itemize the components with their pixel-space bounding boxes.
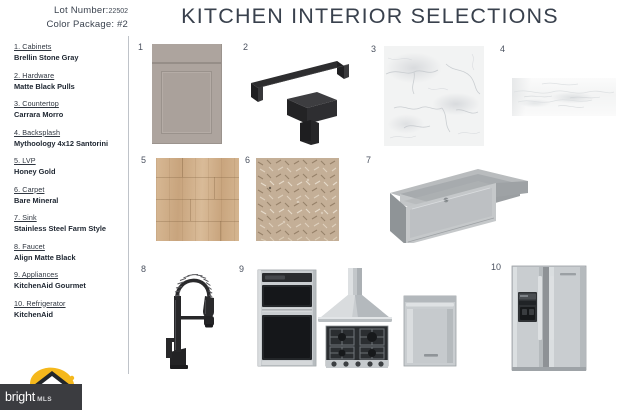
legend-value-lvp: Honey Gold (14, 166, 126, 177)
legend-head-carpet: 6. Carpet (14, 185, 126, 195)
lot-number-label: Lot Number: (54, 5, 108, 16)
marker-5: 5 (141, 155, 146, 165)
dishwasher-icon (404, 296, 456, 366)
marker-9: 9 (239, 264, 244, 274)
hardware-icon (245, 55, 355, 145)
plank-seam (156, 221, 239, 222)
legend-head-faucet: 8. Faucet (14, 242, 126, 252)
countertop-veining (384, 46, 484, 146)
cabinet-panel (161, 71, 212, 134)
hardware-pull-knob (245, 55, 355, 145)
legend-head-appliances: 9. Appliances (14, 270, 126, 280)
marker-8: 8 (141, 264, 146, 274)
marker-1: 1 (138, 42, 143, 52)
plank-vseam (190, 199, 191, 221)
legend-head-hardware: 2. Hardware (14, 71, 126, 81)
marker-6: 6 (245, 155, 250, 165)
lot-info: Lot Number:22502 Color Package: #2 (8, 4, 128, 31)
legend-item-carpet: 6. Carpet Bare Mineral (14, 185, 126, 206)
refrigerator (508, 264, 590, 372)
plank-vseam (182, 158, 183, 177)
color-package-line: Color Package: #2 (8, 18, 128, 31)
page-title: KITCHEN INTERIOR SELECTIONS (160, 4, 580, 29)
marker-3: 3 (371, 44, 376, 54)
wall-oven-icon (258, 270, 316, 366)
carpet-texture (256, 158, 339, 241)
lot-number-line: Lot Number:22502 (8, 4, 128, 18)
countertop-swatch (384, 46, 484, 146)
bright-mls-suffix: MLS (35, 392, 52, 403)
selection-board: Lot Number:22502 Color Package: #2 KITCH… (0, 0, 640, 413)
legend-head-sink: 7. Sink (14, 213, 126, 223)
marker-4: 4 (500, 44, 505, 54)
range-hood-icon (318, 268, 392, 322)
plank-vseam (220, 221, 221, 241)
bright-mls-watermark: bright MLS (0, 384, 82, 410)
legend-item-cabinets: 1. Cabinets Brellin Stone Gray (14, 42, 126, 63)
faucet-icon (152, 266, 232, 370)
bright-mls-brand: bright (0, 390, 35, 404)
legend-head-backsplash: 4. Backsplash (14, 128, 126, 138)
color-package-label: Color Package: (46, 19, 117, 30)
legend-item-countertop: 3. Countertop Carrara Morro (14, 99, 126, 120)
legend-value-carpet: Bare Mineral (14, 195, 126, 206)
legend-item-hardware: 2. Hardware Matte Black Pulls (14, 71, 126, 92)
plank-seam (156, 177, 239, 178)
kitchen-faucet (152, 266, 232, 370)
plank-vseam (214, 177, 215, 199)
legend-head-cabinets: 1. Cabinets (14, 42, 126, 52)
color-package-value: #2 (117, 19, 128, 30)
legend-value-sink: Stainless Steel Farm Style (14, 223, 126, 234)
legend-item-refrigerator: 10. Refrigerator KitchenAid (14, 299, 126, 320)
square-knob-icon (287, 92, 337, 145)
bar-pull-icon (251, 61, 349, 102)
legend-value-hardware: Matte Black Pulls (14, 81, 126, 92)
legend-value-backsplash: Mythoology 4x12 Santorini (14, 138, 126, 149)
appliance-package (248, 266, 466, 370)
refrigerator-icon (508, 264, 590, 372)
sink-icon (382, 163, 532, 243)
legend-item-appliances: 9. Appliances KitchenAid Gourmet (14, 270, 126, 291)
marker-2: 2 (243, 42, 248, 52)
legend-item-faucet: 8. Faucet Align Matte Black (14, 242, 126, 263)
legend-value-appliances: KitchenAid Gourmet (14, 280, 126, 291)
gas-cooktop-icon (326, 326, 388, 368)
legend-value-cabinets: Brellin Stone Gray (14, 52, 126, 63)
vertical-divider (128, 36, 129, 374)
legend-item-backsplash: 4. Backsplash Mythoology 4x12 Santorini (14, 128, 126, 149)
legend-value-refrigerator: KitchenAid (14, 309, 126, 320)
lvp-flooring-swatch (156, 158, 239, 241)
legend-item-sink: 7. Sink Stainless Steel Farm Style (14, 213, 126, 234)
marker-10: 10 (491, 262, 501, 272)
marker-7: 7 (366, 155, 371, 165)
legend-head-refrigerator: 10. Refrigerator (14, 299, 126, 309)
legend-value-faucet: Align Matte Black (14, 252, 126, 263)
backsplash-tile (512, 78, 616, 116)
cabinet-door-swatch (152, 44, 222, 144)
plank-seam (156, 199, 239, 200)
appliances-icon (248, 266, 466, 370)
legend-value-countertop: Carrara Morro (14, 109, 126, 120)
lot-number-value: 22502 (109, 8, 128, 15)
backsplash-veining (512, 78, 616, 116)
cabinet-rail (152, 62, 221, 64)
legend-item-lvp: 5. LVP Honey Gold (14, 156, 126, 177)
legend-head-lvp: 5. LVP (14, 156, 126, 166)
farmhouse-sink (382, 163, 532, 243)
carpet-swatch (256, 158, 339, 241)
legend-head-countertop: 3. Countertop (14, 99, 126, 109)
selections-legend: 1. Cabinets Brellin Stone Gray 2. Hardwa… (14, 42, 126, 327)
